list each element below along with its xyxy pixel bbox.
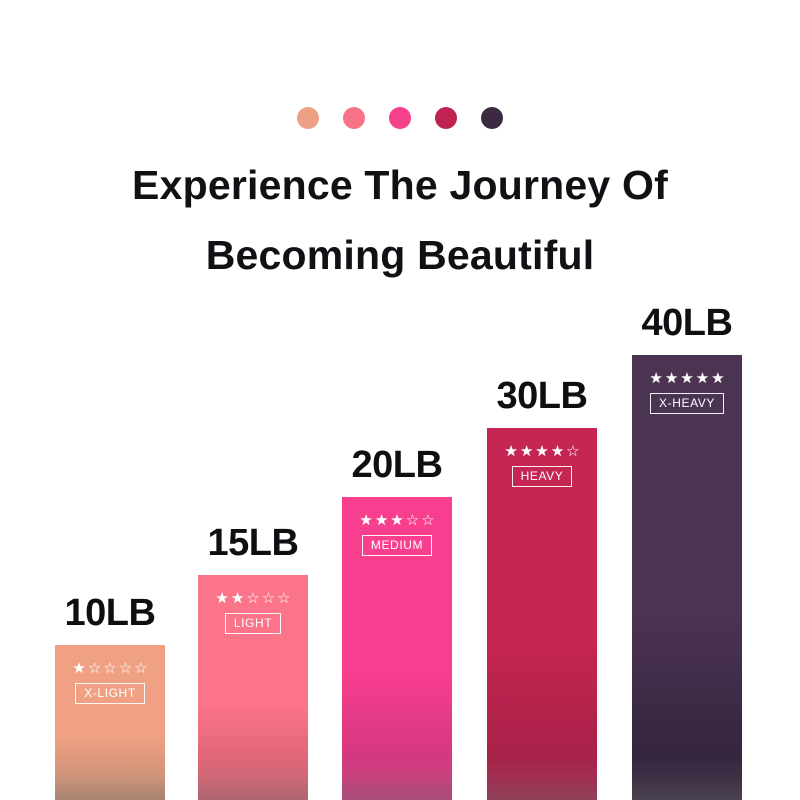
bar-30lb: ★★★★☆HEAVY <box>487 428 597 800</box>
color-dot-5 <box>481 107 503 129</box>
star-filled-icon: ★ <box>359 513 372 528</box>
star-filled-icon: ★ <box>215 591 228 606</box>
star-filled-icon: ★ <box>504 444 517 459</box>
bar-column-10lb[interactable]: 10LB★☆☆☆☆X-LIGHT <box>55 645 165 800</box>
bar-column-15lb[interactable]: 15LB★★☆☆☆LIGHT <box>198 575 308 800</box>
color-dot-2 <box>343 107 365 129</box>
star-filled-icon: ★ <box>231 591 244 606</box>
resistance-level-badge-15lb: LIGHT <box>225 613 281 634</box>
bar-40lb: ★★★★★X-HEAVY <box>632 355 742 800</box>
bar-column-40lb[interactable]: 40LB★★★★★X-HEAVY <box>632 355 742 800</box>
color-dot-1 <box>297 107 319 129</box>
star-filled-icon: ★ <box>649 371 662 386</box>
star-filled-icon: ★ <box>711 371 724 386</box>
star-filled-icon: ★ <box>375 513 388 528</box>
color-swatch-row <box>0 107 800 129</box>
bar-content-30lb: ★★★★☆HEAVY <box>487 444 597 487</box>
star-empty-icon: ☆ <box>406 513 419 528</box>
star-filled-icon: ★ <box>551 444 564 459</box>
infographic-page: Experience The Journey Of Becoming Beaut… <box>0 0 800 800</box>
star-filled-icon: ★ <box>390 513 403 528</box>
star-filled-icon: ★ <box>696 371 709 386</box>
star-empty-icon: ☆ <box>566 444 579 459</box>
bar-weight-label-40lb: 40LB <box>604 302 770 345</box>
star-empty-icon: ☆ <box>421 513 434 528</box>
star-filled-icon: ★ <box>535 444 548 459</box>
star-empty-icon: ☆ <box>103 661 116 676</box>
resistance-level-badge-30lb: HEAVY <box>512 466 573 487</box>
star-rating-30lb: ★★★★☆ <box>504 444 579 459</box>
bar-content-40lb: ★★★★★X-HEAVY <box>632 371 742 414</box>
color-dot-4 <box>435 107 457 129</box>
star-empty-icon: ☆ <box>246 591 259 606</box>
page-title: Experience The Journey Of Becoming Beaut… <box>0 150 800 290</box>
bar-weight-label-15lb: 15LB <box>170 522 336 565</box>
star-empty-icon: ☆ <box>119 661 132 676</box>
star-filled-icon: ★ <box>665 371 678 386</box>
star-filled-icon: ★ <box>72 661 85 676</box>
star-rating-10lb: ★☆☆☆☆ <box>72 661 147 676</box>
star-rating-15lb: ★★☆☆☆ <box>215 591 290 606</box>
star-empty-icon: ☆ <box>88 661 101 676</box>
bar-content-15lb: ★★☆☆☆LIGHT <box>198 591 308 634</box>
resistance-level-badge-10lb: X-LIGHT <box>75 683 145 704</box>
star-filled-icon: ★ <box>680 371 693 386</box>
bar-content-20lb: ★★★☆☆MEDIUM <box>342 513 452 556</box>
bar-weight-label-30lb: 30LB <box>459 375 625 418</box>
bar-20lb: ★★★☆☆MEDIUM <box>342 497 452 800</box>
resistance-level-badge-40lb: X-HEAVY <box>650 393 724 414</box>
star-empty-icon: ☆ <box>277 591 290 606</box>
color-dot-3 <box>389 107 411 129</box>
bar-15lb: ★★☆☆☆LIGHT <box>198 575 308 800</box>
star-rating-40lb: ★★★★★ <box>649 371 724 386</box>
bar-10lb: ★☆☆☆☆X-LIGHT <box>55 645 165 800</box>
bar-column-20lb[interactable]: 20LB★★★☆☆MEDIUM <box>342 497 452 800</box>
star-empty-icon: ☆ <box>134 661 147 676</box>
bar-weight-label-20lb: 20LB <box>314 444 480 487</box>
star-empty-icon: ☆ <box>262 591 275 606</box>
resistance-band-bar-chart: 10LB★☆☆☆☆X-LIGHT15LB★★☆☆☆LIGHT20LB★★★☆☆M… <box>0 280 800 800</box>
page-title-line-1: Experience The Journey Of <box>132 162 668 208</box>
resistance-level-badge-20lb: MEDIUM <box>362 535 432 556</box>
bar-content-10lb: ★☆☆☆☆X-LIGHT <box>55 661 165 704</box>
star-filled-icon: ★ <box>520 444 533 459</box>
bar-fill-40lb <box>632 355 742 800</box>
bar-weight-label-10lb: 10LB <box>27 592 193 635</box>
bar-column-30lb[interactable]: 30LB★★★★☆HEAVY <box>487 428 597 800</box>
star-rating-20lb: ★★★☆☆ <box>359 513 434 528</box>
